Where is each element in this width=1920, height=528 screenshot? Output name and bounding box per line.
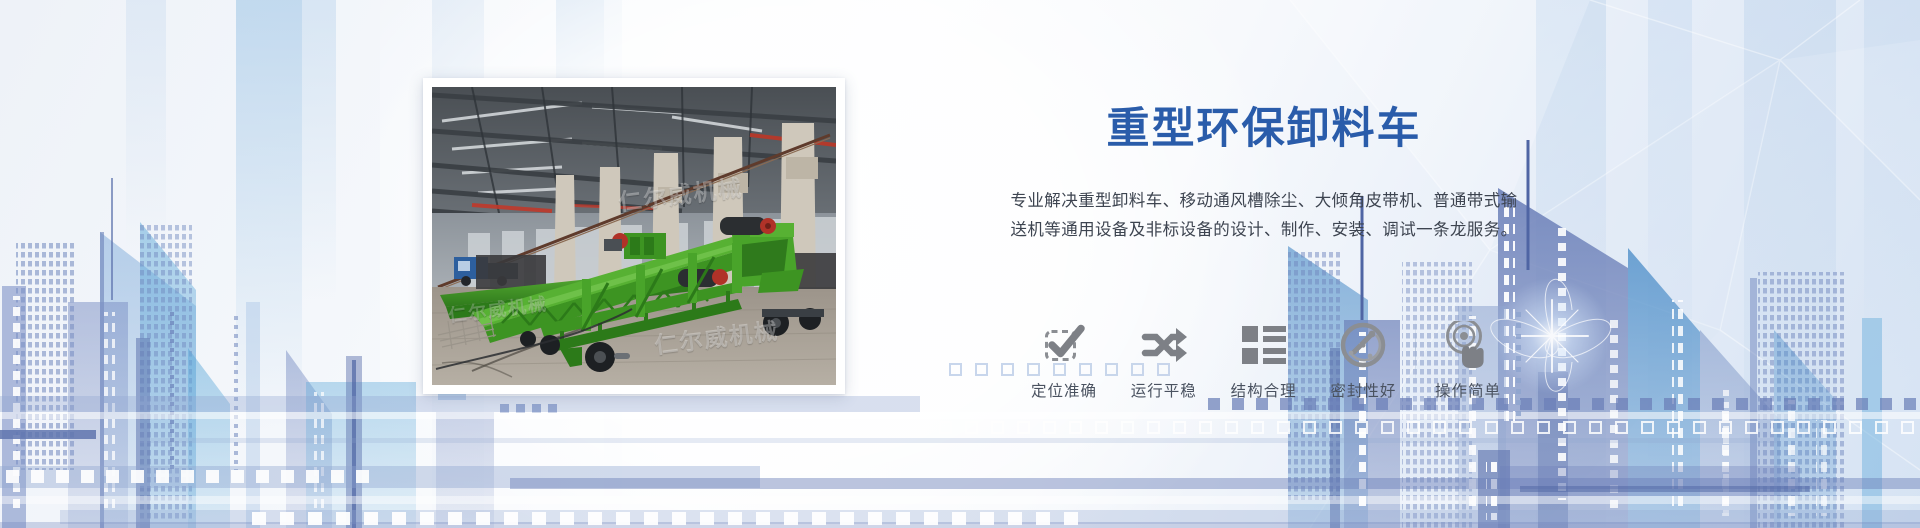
shuffle-arrows-icon — [1116, 318, 1212, 372]
list-blocks-icon — [1216, 318, 1312, 372]
hero-copy: 重型环保卸料车 专业解决重型卸料车、移动通风槽除尘、大倾角皮带机、普通带式输送机… — [1008, 104, 1520, 245]
feature-divider — [1415, 320, 1416, 382]
feature-label: 结构合理 — [1216, 379, 1312, 401]
feature-item-positioning[interactable]: 定位准确 — [1016, 318, 1112, 401]
feature-label: 运行平稳 — [1116, 379, 1212, 401]
product-hero-banner: 仁尔威机械 仁尔威机械 仁尔威机械 重型环保卸料车 专业解决重型卸料车、移动通风… — [0, 0, 1920, 528]
gauge-seal-icon — [1315, 318, 1411, 372]
feature-item-structure[interactable]: 结构合理 — [1216, 318, 1312, 401]
hero-description: 专业解决重型卸料车、移动通风槽除尘、大倾角皮带机、普通带式输送机等通用设备及非标… — [1008, 187, 1520, 246]
feature-list: 定位准确 运行平稳 — [1016, 318, 1516, 401]
feature-item-easy-operation[interactable]: 操作简单 — [1420, 318, 1516, 401]
background-skyline-right — [1280, 0, 1920, 528]
touch-hand-icon — [1420, 318, 1516, 372]
feature-label: 定位准确 — [1016, 379, 1112, 401]
product-photo[interactable]: 仁尔威机械 仁尔威机械 仁尔威机械 — [432, 87, 836, 385]
feature-item-sealing[interactable]: 密封性好 — [1315, 318, 1411, 401]
page-title: 重型环保卸料车 — [1008, 104, 1520, 155]
decor-dotted-column — [1516, 312, 1522, 420]
background-data-bands — [0, 338, 1920, 528]
check-in-dashed-box-icon — [1016, 318, 1112, 372]
background-glass-pillars — [0, 0, 1920, 528]
product-photo-frame[interactable]: 仁尔威机械 仁尔威机械 仁尔威机械 — [423, 78, 845, 394]
feature-item-smooth-operation[interactable]: 运行平稳 — [1116, 318, 1212, 401]
background-polygon-facets — [1160, 0, 1920, 528]
feature-label: 密封性好 — [1315, 379, 1411, 401]
feature-label: 操作简单 — [1420, 379, 1516, 401]
